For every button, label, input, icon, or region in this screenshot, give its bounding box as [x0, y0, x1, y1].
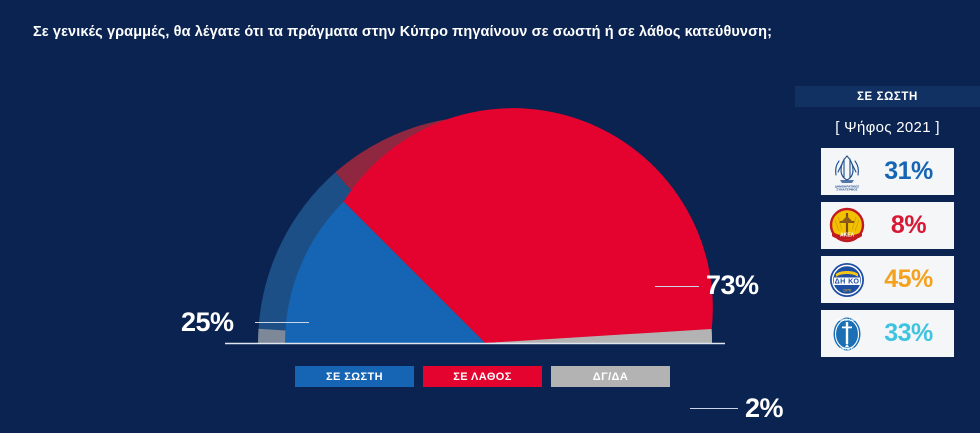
akel-logo: ΑΚΕΛ: [825, 205, 869, 246]
svg-text:ΑΚΕΛ: ΑΚΕΛ: [840, 232, 855, 238]
party-value-diko: 45%: [869, 267, 948, 292]
svg-text:1976: 1976: [843, 288, 851, 292]
party-value-disy: 31%: [869, 159, 948, 184]
legend-item-right-direction[interactable]: ΣΕ ΣΩΣΤΗ: [295, 366, 414, 387]
chart-legend: ΣΕ ΣΩΣΤΗ ΣΕ ΛΑΘΟΣ ΔΓ/ΔΑ: [295, 366, 670, 387]
gauge-chart-svg: [0, 70, 790, 360]
party-value-akel: 8%: [869, 213, 948, 238]
legend-item-wrong-direction[interactable]: ΣΕ ΛΑΘΟΣ: [423, 366, 542, 387]
leader-line-right-direction: [255, 322, 309, 323]
elam-logo: ΕΘΝΙΚΟ ΛΑΙΚΟ ΜΕΤΩΠΟ: [825, 313, 869, 354]
breakdown-panel: ΣΕ ΣΩΣΤΗ [ Ψήφος 2021 ]: [795, 86, 980, 357]
callout-wrong-direction: 73%: [706, 270, 759, 301]
page-title: Σε γενικές γραμμές, θα λέγατε ότι τα πρά…: [33, 24, 772, 40]
svg-text:ΜΕΤΩΠΟ: ΜΕΤΩΠΟ: [840, 347, 855, 351]
callout-right-direction: 25%: [181, 307, 234, 338]
disy-logo: ΔΗΜΟΚΡΑΤΙΚΟΣ ΣΥΝΑΓΕΡΜΟΣ: [825, 151, 869, 192]
svg-text:ΣΥΝΑΓΕΡΜΟΣ: ΣΥΝΑΓΕΡΜΟΣ: [836, 187, 857, 191]
legend-item-dont-know[interactable]: ΔΓ/ΔΑ: [551, 366, 670, 387]
party-row-elam: ΕΘΝΙΚΟ ΛΑΙΚΟ ΜΕΤΩΠΟ 33%: [821, 310, 954, 357]
gauge-chart: 25% 73% 2%: [0, 70, 790, 360]
party-breakdown-list: ΔΗΜΟΚΡΑΤΙΚΟΣ ΣΥΝΑΓΕΡΜΟΣ 31%: [795, 148, 980, 357]
svg-text:ΕΘΝΙΚΟ ΛΑΙΚΟ: ΕΘΝΙΚΟ ΛΑΙΚΟ: [835, 318, 859, 322]
leader-line-dont-know: [690, 408, 738, 409]
party-row-akel: ΑΚΕΛ 8%: [821, 202, 954, 249]
party-row-diko: ΔΗ ΚΟ 1976 45%: [821, 256, 954, 303]
party-row-disy: ΔΗΜΟΚΡΑΤΙΚΟΣ ΣΥΝΑΓΕΡΜΟΣ 31%: [821, 148, 954, 195]
diko-logo: ΔΗ ΚΟ 1976: [825, 259, 869, 300]
breakdown-panel-subtitle: [ Ψήφος 2021 ]: [795, 119, 980, 136]
leader-line-wrong-direction: [655, 286, 699, 287]
callout-dont-know: 2%: [745, 393, 783, 424]
party-value-elam: 33%: [869, 321, 948, 346]
svg-text:ΔΗ ΚΟ: ΔΗ ΚΟ: [835, 276, 860, 285]
breakdown-panel-header: ΣΕ ΣΩΣΤΗ: [795, 86, 980, 107]
